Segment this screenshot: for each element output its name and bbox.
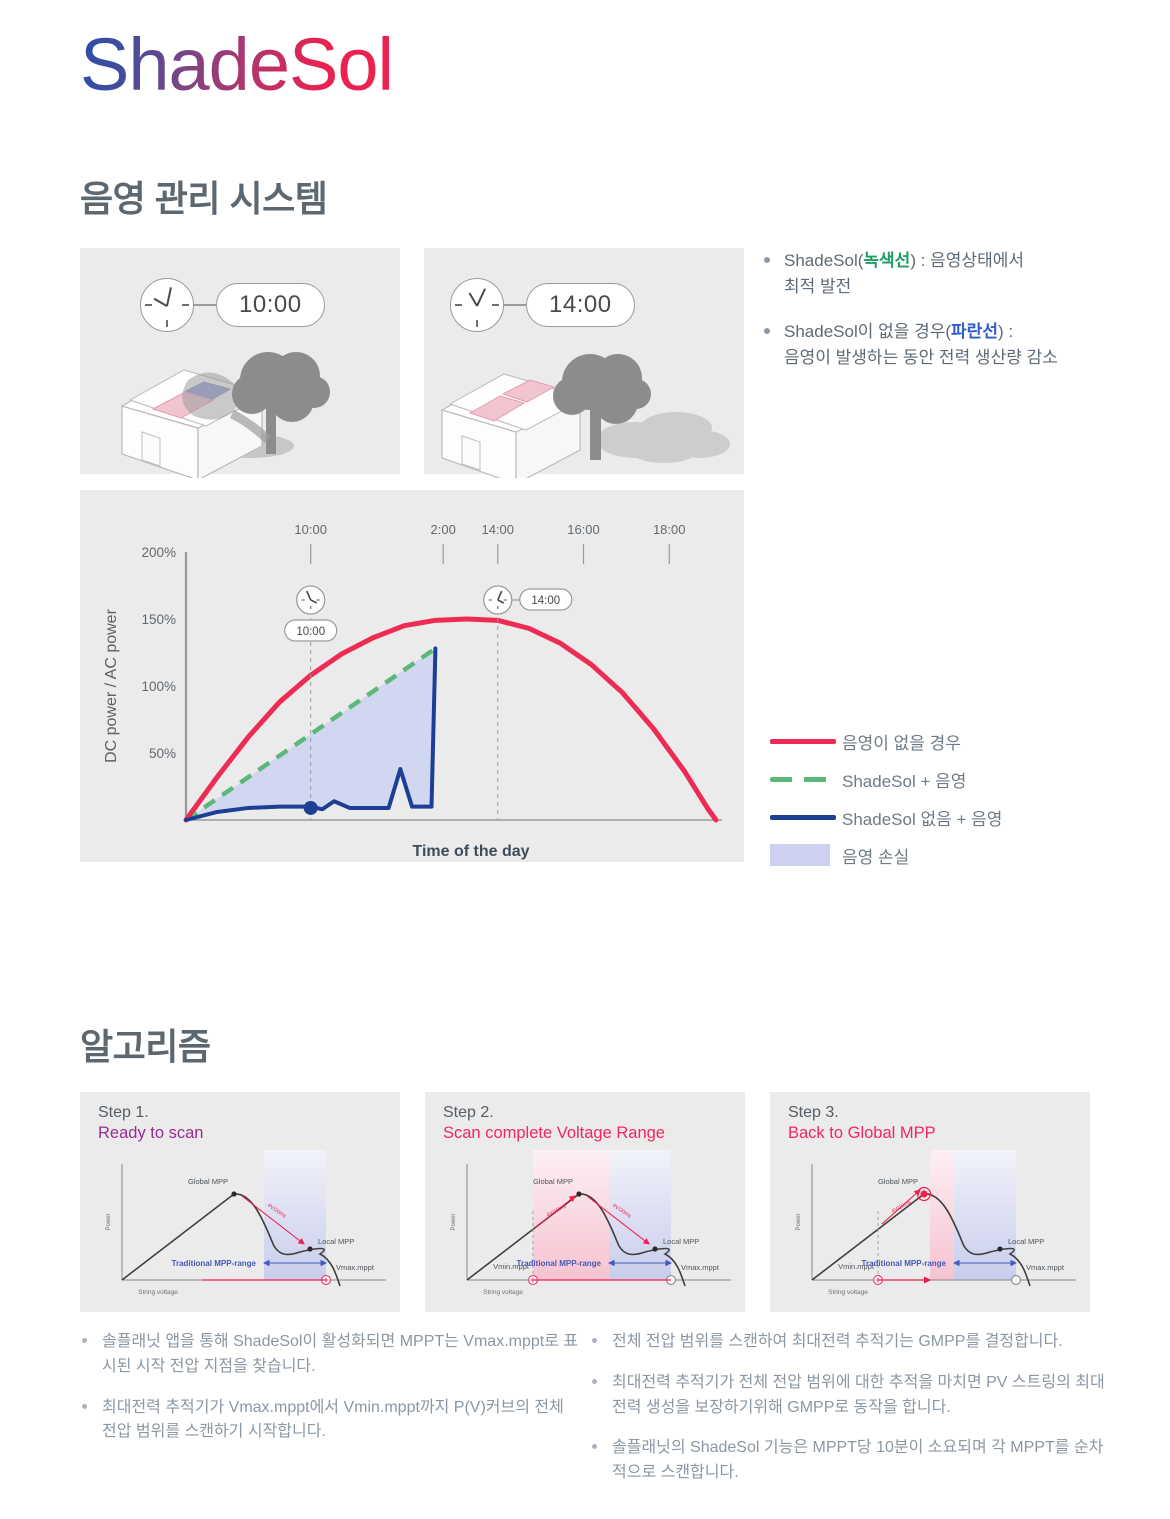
svg-text:String voltage: String voltage	[138, 1289, 178, 1296]
list-item: 최대전력 추적기가 Vmax.mppt에서 Vmin.mppt까지 P(V)커브…	[82, 1396, 582, 1446]
bullet-keyword-0: 녹색선	[863, 251, 910, 270]
algorithm-step-card-1: Step 1. Ready to scan PowerString voltag…	[80, 1092, 400, 1312]
page-title-algorithm: 알고리즘	[80, 1018, 210, 1070]
step-number: Step 1.	[98, 1104, 149, 1122]
svg-text:Local MPP: Local MPP	[318, 1237, 354, 1246]
step-diagram-3: PowerString voltageGlobal MPPLocal MPPVm…	[770, 1150, 1090, 1310]
svg-text:50%: 50%	[149, 746, 176, 761]
svg-text:Local MPP: Local MPP	[663, 1237, 699, 1246]
svg-text:2:00: 2:00	[431, 522, 456, 537]
algorithm-step-card-3: Step 3. Back to Global MPP PowerString v…	[770, 1092, 1090, 1312]
svg-text:String voltage: String voltage	[828, 1289, 868, 1296]
svg-text:4V/10ms: 4V/10ms	[891, 1199, 913, 1214]
svg-text:Vmax.mppt: Vmax.mppt	[336, 1263, 375, 1272]
list-item: 전체 전압 범위를 스캔하여 최대전력 추적기는 GMPP를 결정합니다.	[592, 1330, 1107, 1355]
bullet-post-1: ) :	[998, 322, 1013, 341]
legend-label: 음영 손실	[842, 843, 909, 868]
legend-swatch-navy-line	[770, 815, 842, 820]
brand-logo: ShadeSol	[80, 28, 393, 102]
svg-text:150%: 150%	[141, 612, 176, 627]
svg-text:Time of the day: Time of the day	[412, 843, 529, 860]
algorithm-step-card-2: Step 2. Scan complete Voltage Range Powe…	[425, 1092, 745, 1312]
svg-text:Power: Power	[451, 1213, 457, 1230]
page-title-shade: 음영 관리 시스템	[80, 170, 327, 222]
svg-text:Vmax.mppt: Vmax.mppt	[1026, 1263, 1065, 1272]
clock-10-icon	[140, 278, 194, 332]
clock-time-label-10: 10:00	[216, 283, 325, 327]
svg-text:Traditional MPP-range: Traditional MPP-range	[517, 1259, 602, 1268]
bullet-keyword-1: 파란선	[951, 322, 998, 341]
svg-text:Global MPP: Global MPP	[188, 1177, 228, 1186]
svg-text:14:00: 14:00	[481, 522, 514, 537]
house-illustration-10: 10:00	[80, 248, 400, 474]
legend-item-no-shadesol-shade: ShadeSol 없음 + 음영	[770, 798, 1130, 836]
legend-swatch-fill	[770, 844, 842, 866]
step-number: Step 3.	[788, 1104, 839, 1122]
svg-text:Power: Power	[796, 1213, 802, 1230]
legend-swatch-green-dashed	[770, 777, 842, 782]
svg-text:100%: 100%	[141, 679, 176, 694]
svg-text:16:00: 16:00	[567, 522, 600, 537]
algorithm-bullets-left: 솔플래닛 앱을 통해 ShadeSol이 활성화되면 MPPT는 Vmax.mp…	[82, 1330, 582, 1461]
clock-badge-10: 10:00	[140, 278, 325, 332]
svg-text:Power: Power	[106, 1213, 112, 1230]
list-item: ShadeSol이 없을 경우(파란선) : 음영이 발생하는 동안 전력 생산…	[764, 319, 1124, 372]
list-item: 솔플래닛 앱을 통해 ShadeSol이 활성화되면 MPPT는 Vmax.mp…	[82, 1330, 582, 1380]
list-item: 솔플래닛의 ShadeSol 기능은 MPPT당 10분이 소요되며 각 MPP…	[592, 1436, 1107, 1486]
svg-text:18:00: 18:00	[653, 522, 686, 537]
bullet-pre-1: ShadeSol이 없을 경우(	[784, 322, 951, 341]
page-root: ShadeSol 음영 관리 시스템 10:00	[0, 0, 1170, 1519]
algorithm-bullets-right: 전체 전압 범위를 스캔하여 최대전력 추적기는 GMPP를 결정합니다. 최대…	[592, 1330, 1107, 1502]
shade-bullet-list: ShadeSol(녹색선) : 음영상태에서 최적 발전 ShadeSol이 없…	[764, 248, 1124, 389]
bullet-post-0: ) : 음영상태에서	[910, 251, 1024, 270]
house-svg-10	[80, 328, 400, 478]
legend-swatch-red-line	[770, 739, 842, 744]
clock-connector	[504, 304, 526, 306]
bullet-pre-0: ShadeSol(	[784, 251, 863, 270]
step-diagram-1: PowerString voltageGlobal MPPLocal MPPVm…	[80, 1150, 400, 1310]
svg-text:Traditional MPP-range: Traditional MPP-range	[172, 1259, 257, 1268]
chart-legend: 음영이 없을 경우 ShadeSol + 음영 ShadeSol 없음 + 음영…	[770, 722, 1130, 874]
legend-label: 음영이 없을 경우	[842, 729, 961, 754]
legend-item-shade-loss: 음영 손실	[770, 836, 1130, 874]
house-illustration-14: 14:00	[424, 248, 744, 474]
step-diagram-2: PowerString voltageGlobal MPPLocal MPPVm…	[425, 1150, 745, 1310]
svg-text:String voltage: String voltage	[483, 1289, 523, 1296]
legend-item-no-shade: 음영이 없을 경우	[770, 722, 1130, 760]
legend-item-shadesol-shade: ShadeSol + 음영	[770, 760, 1130, 798]
legend-label: ShadeSol + 음영	[842, 767, 966, 792]
house-svg-14	[424, 328, 744, 478]
svg-text:Global MPP: Global MPP	[533, 1177, 573, 1186]
svg-text:Global MPP: Global MPP	[878, 1177, 918, 1186]
svg-text:10:00: 10:00	[296, 626, 325, 638]
svg-text:200%: 200%	[141, 545, 176, 560]
svg-text:10:00: 10:00	[294, 522, 327, 537]
svg-text:14:00: 14:00	[531, 595, 560, 607]
clock-14-icon	[450, 278, 504, 332]
clock-time-label-14: 14:00	[526, 283, 635, 327]
svg-text:Vmax.mppt: Vmax.mppt	[681, 1263, 720, 1272]
svg-text:DC power / AC power: DC power / AC power	[103, 608, 120, 763]
bullet-line2-0: 최적 발전	[784, 277, 851, 296]
list-item: ShadeSol(녹색선) : 음영상태에서 최적 발전	[764, 248, 1124, 301]
step-name: Back to Global MPP	[788, 1124, 936, 1143]
shade-power-chart: 50%100%150%200%DC power / AC power10:002…	[80, 490, 744, 862]
legend-label: ShadeSol 없음 + 음영	[842, 805, 1002, 830]
step-name: Ready to scan	[98, 1124, 203, 1143]
clock-connector	[194, 304, 216, 306]
svg-text:Traditional MPP-range: Traditional MPP-range	[862, 1259, 947, 1268]
chart-canvas: 50%100%150%200%DC power / AC power10:002…	[80, 490, 744, 862]
clock-badge-14: 14:00	[450, 278, 635, 332]
bullet-line2-1: 음영이 발생하는 동안 전력 생산량 감소	[784, 348, 1058, 367]
svg-text:Local MPP: Local MPP	[1008, 1237, 1044, 1246]
step-number: Step 2.	[443, 1104, 494, 1122]
step-name: Scan complete Voltage Range	[443, 1124, 665, 1143]
list-item: 최대전력 추적기가 전체 전압 범위에 대한 추적을 마치면 PV 스트링의 최…	[592, 1371, 1107, 1421]
